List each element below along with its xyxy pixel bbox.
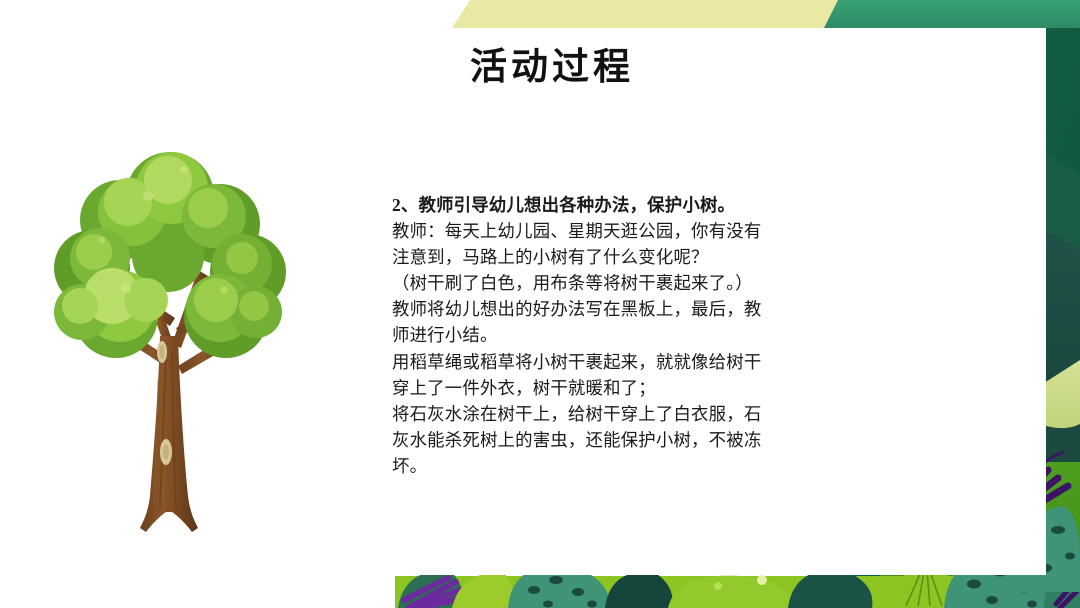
body-line: 将石灰水涂在树干上，给树干穿上了白衣服，石 — [392, 401, 847, 427]
body-text-block: 2、教师引导幼儿想出各种办法，保护小树。 教师：每天上幼儿园、星期天逛公园，你有… — [392, 192, 847, 479]
tree-illustration — [20, 100, 320, 540]
body-line: 2、教师引导幼儿想出各种办法，保护小树。 — [392, 192, 847, 218]
band-left-cut — [0, 0, 470, 28]
body-line: 用稻草绳或稻草将小树干裹起来，就就像给树干 — [392, 349, 847, 375]
body-line: 教师：每天上幼儿园、星期天逛公园，你有没有 — [392, 218, 847, 244]
body-line: 灰水能杀死树上的害虫，还能保护小树，不被冻 — [392, 427, 847, 453]
top-yellow-band — [452, 0, 1080, 28]
body-line: 教师将幼儿想出的好办法写在黑板上，最后，教 — [392, 296, 847, 322]
body-line: （树干刷了白色，用布条等将树干裹起来了。） — [392, 270, 847, 296]
body-line: 穿上了一件外衣，树干就暖和了； — [392, 375, 847, 401]
body-line: 注意到，马路上的小树有了什么变化呢？ — [392, 244, 847, 270]
body-line: 师进行小结。 — [392, 322, 847, 348]
striped-leaf — [398, 571, 464, 608]
slide-canvas: 活动过程 2、教师引导幼儿想出各种办法，保护小树。 教师：每天上幼儿园、星期天逛… — [0, 0, 1080, 608]
body-line: 坏。 — [392, 453, 847, 479]
page-title: 活动过程 — [470, 36, 634, 90]
